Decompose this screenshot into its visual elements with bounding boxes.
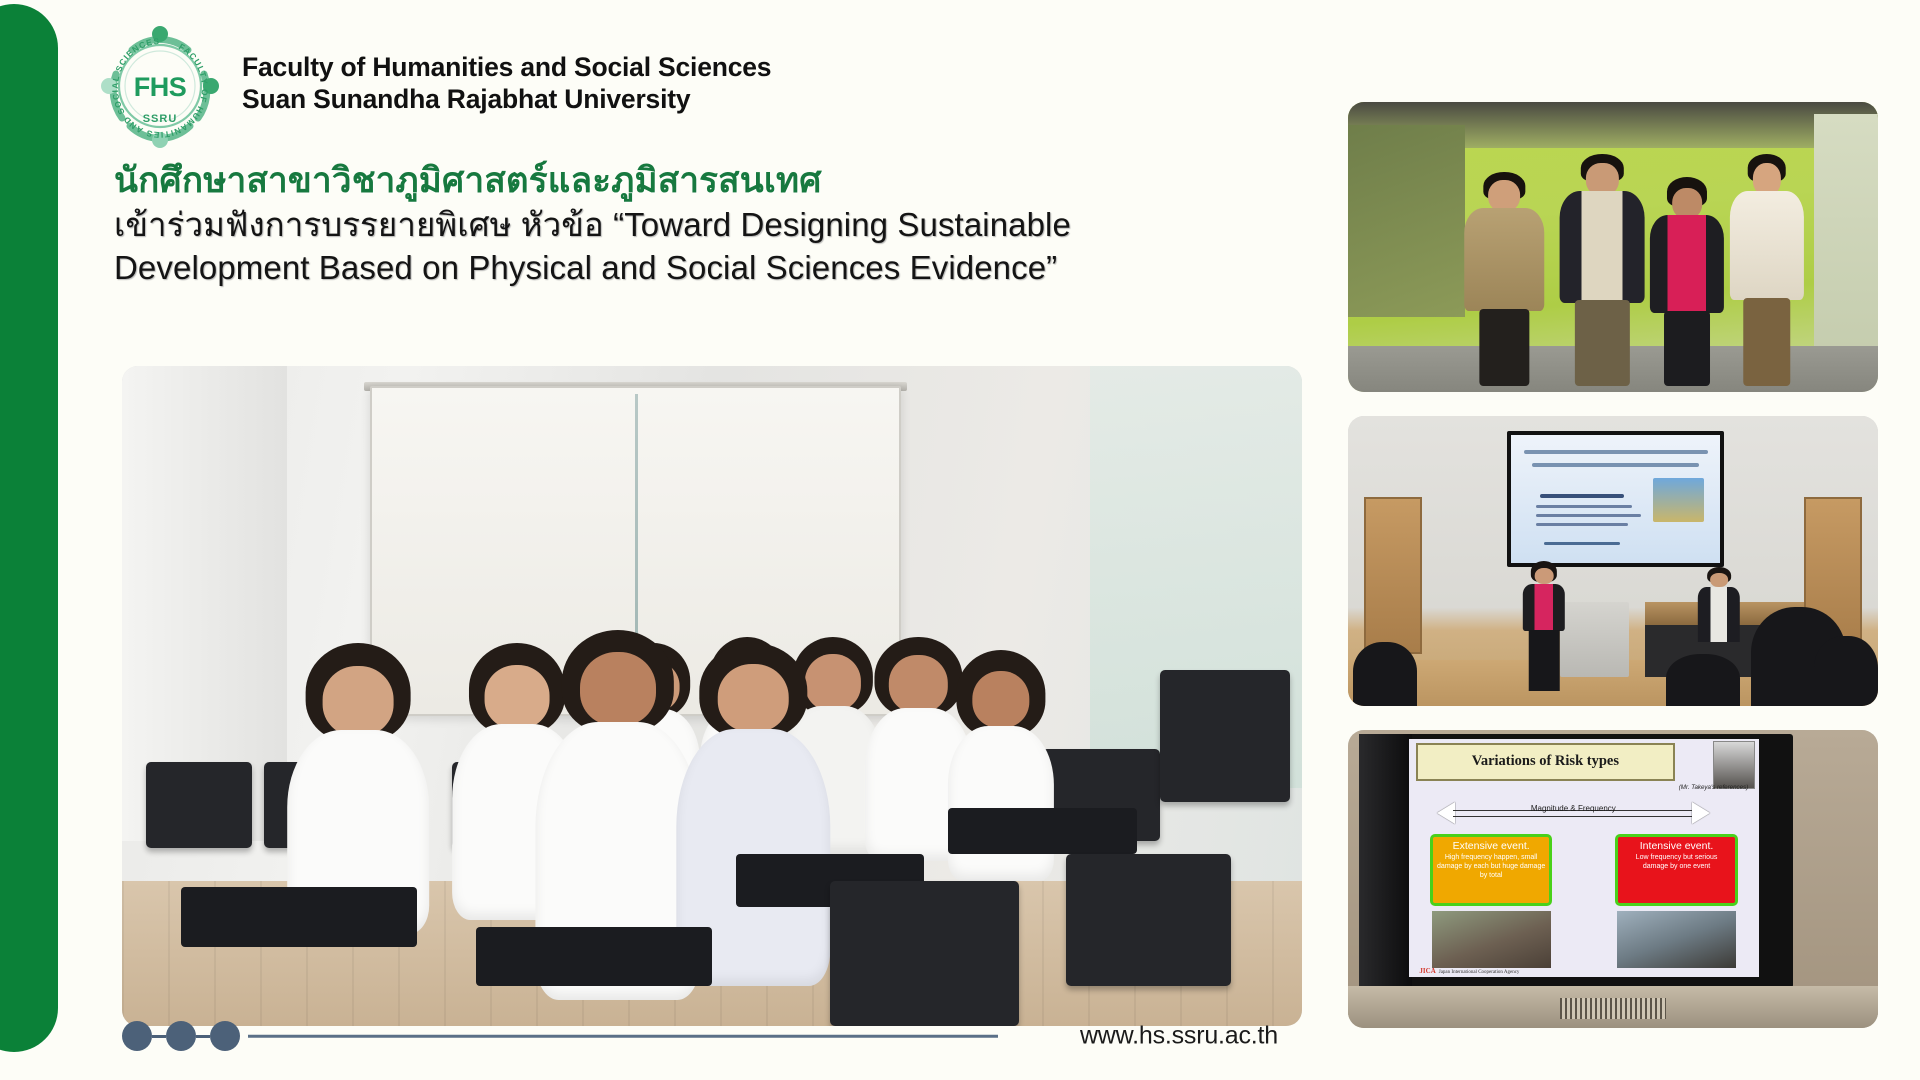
footer-dot-link-1 — [152, 1035, 166, 1038]
footer-rule — [248, 1035, 998, 1038]
footer-dot-3 — [210, 1021, 240, 1051]
organization-name: Faculty of Humanities and Social Science… — [242, 51, 771, 122]
slide-title: Variations of Risk types — [1416, 743, 1675, 781]
slide-box-extensive: Extensive event. High frequency happen, … — [1430, 834, 1552, 906]
footer-dot-link-2 — [196, 1035, 210, 1038]
slide-axis-label: Magnitude & Frequency — [1437, 804, 1710, 813]
headline-thai-green: นักศึกษาสาขาวิชาภูมิศาสตร์และภูมิสารสนเท… — [114, 160, 1174, 203]
org-line-university: Suan Sunandha Rajabhat University — [242, 83, 771, 115]
photo-risk-types-slide: Variations of Risk types (Mr. Takeya's r… — [1348, 730, 1878, 1028]
headline-line-2: เข้าร่วมฟังการบรรยายพิเศษ หัวข้อ “Toward… — [114, 203, 1174, 247]
headline-line-3: Development Based on Physical and Social… — [114, 246, 1174, 290]
slide-reference: (Mr. Takeya's references) — [1679, 784, 1749, 791]
jica-logo: JICAJapan International Cooperation Agen… — [1419, 967, 1519, 975]
org-line-faculty: Faculty of Humanities and Social Science… — [242, 51, 771, 83]
photo-group-four-people — [1348, 102, 1878, 392]
svg-text:SSRU: SSRU — [143, 113, 178, 125]
slide-box-intensive: Intensive event. Low frequency but serio… — [1615, 834, 1737, 906]
photo-main-classroom — [122, 366, 1302, 1026]
footer-dot-1 — [122, 1021, 152, 1051]
footer-dots — [122, 1021, 240, 1051]
left-green-accent-bar — [0, 4, 58, 1052]
footer-website-url: www.hs.ssru.ac.th — [1080, 1022, 1278, 1051]
svg-text:FHS: FHS — [134, 72, 187, 102]
headline-block: นักศึกษาสาขาวิชาภูมิศาสตร์และภูมิสารสนเท… — [114, 160, 1174, 290]
header: FACULTY OF HUMANITIES AND SOCIAL SCIENCE… — [96, 22, 771, 150]
footer: www.hs.ssru.ac.th — [122, 1008, 1292, 1064]
footer-dot-2 — [166, 1021, 196, 1051]
photo-lecture-hall — [1348, 416, 1878, 706]
fhs-logo: FACULTY OF HUMANITIES AND SOCIAL SCIENCE… — [96, 22, 224, 150]
